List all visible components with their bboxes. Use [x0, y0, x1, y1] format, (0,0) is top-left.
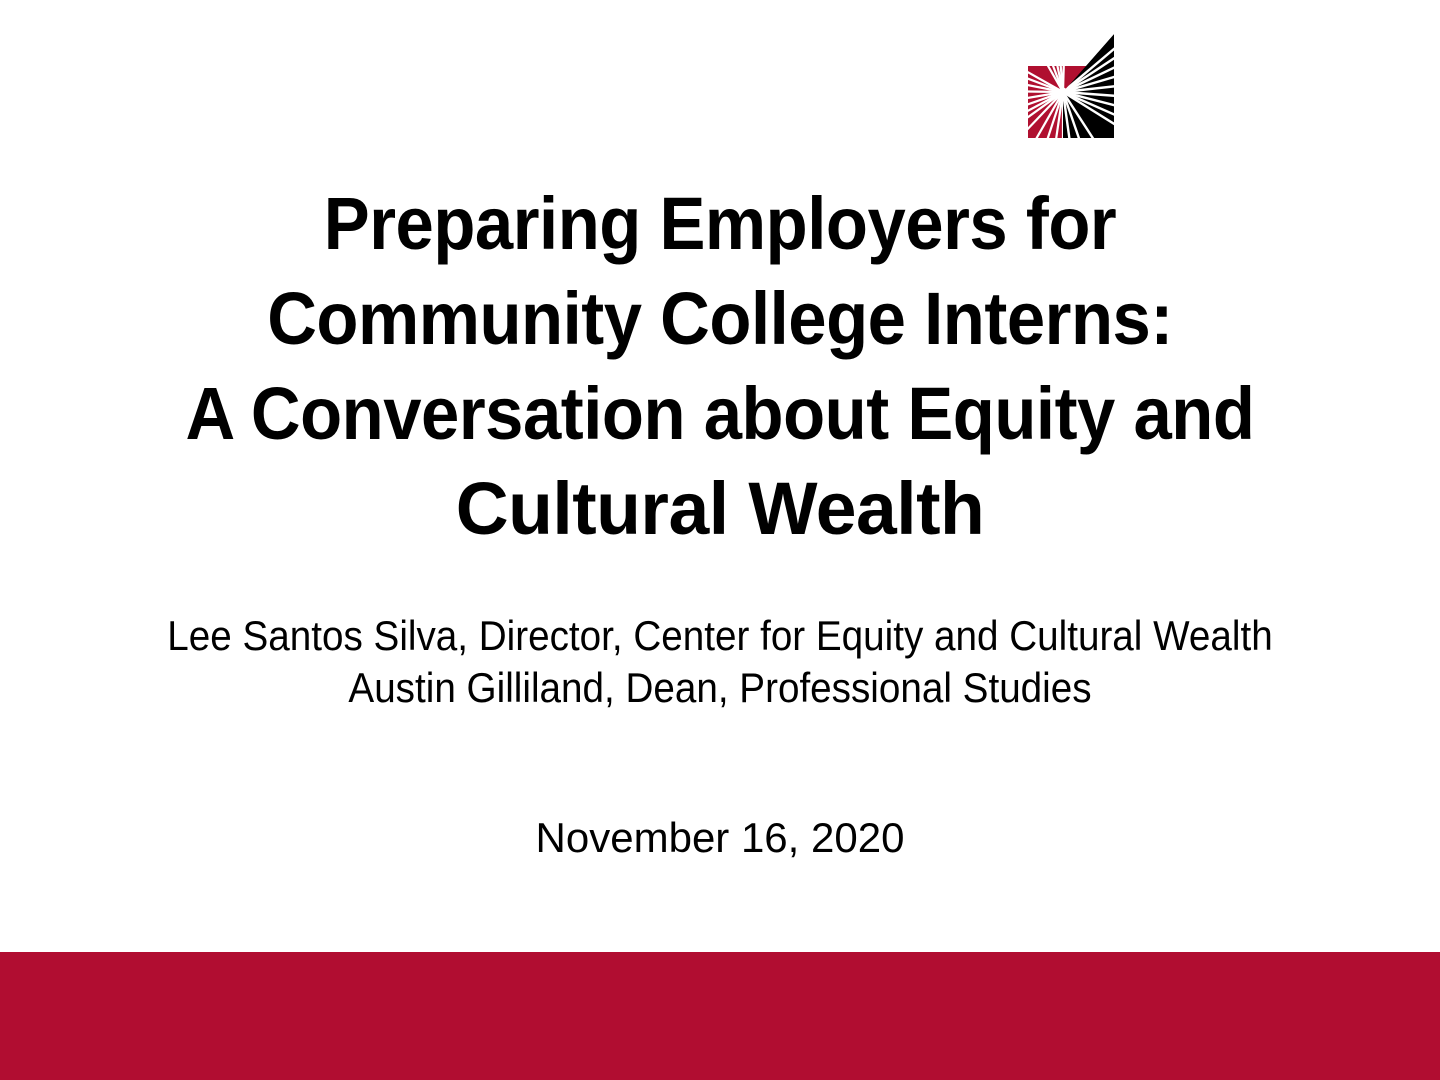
institution-logo [1022, 34, 1118, 140]
presenter-credits: Lee Santos Silva, Director, Center for E… [0, 610, 1440, 714]
presenter-line-1: Lee Santos Silva, Director, Center for E… [58, 610, 1383, 662]
presenter-line-2: Austin Gilliland, Dean, Professional Stu… [58, 662, 1383, 714]
sunburst-logo-icon [1022, 34, 1118, 140]
logo-black-rays [1063, 34, 1118, 140]
logo-core-glow [1059, 88, 1068, 97]
title-line-2: Community College Interns: [50, 271, 1389, 366]
presentation-date: November 16, 2020 [0, 812, 1440, 864]
title-slide: Preparing Employers for Community Colleg… [0, 0, 1440, 1080]
title-line-4: Cultural Wealth [7, 461, 1433, 556]
page-title: Preparing Employers for Community Colleg… [0, 176, 1440, 556]
date-text: November 16, 2020 [0, 812, 1440, 864]
title-line-1: Preparing Employers for [50, 176, 1389, 271]
title-line-3: A Conversation about Equity and [50, 366, 1389, 461]
bottom-accent-bar [0, 952, 1440, 1080]
